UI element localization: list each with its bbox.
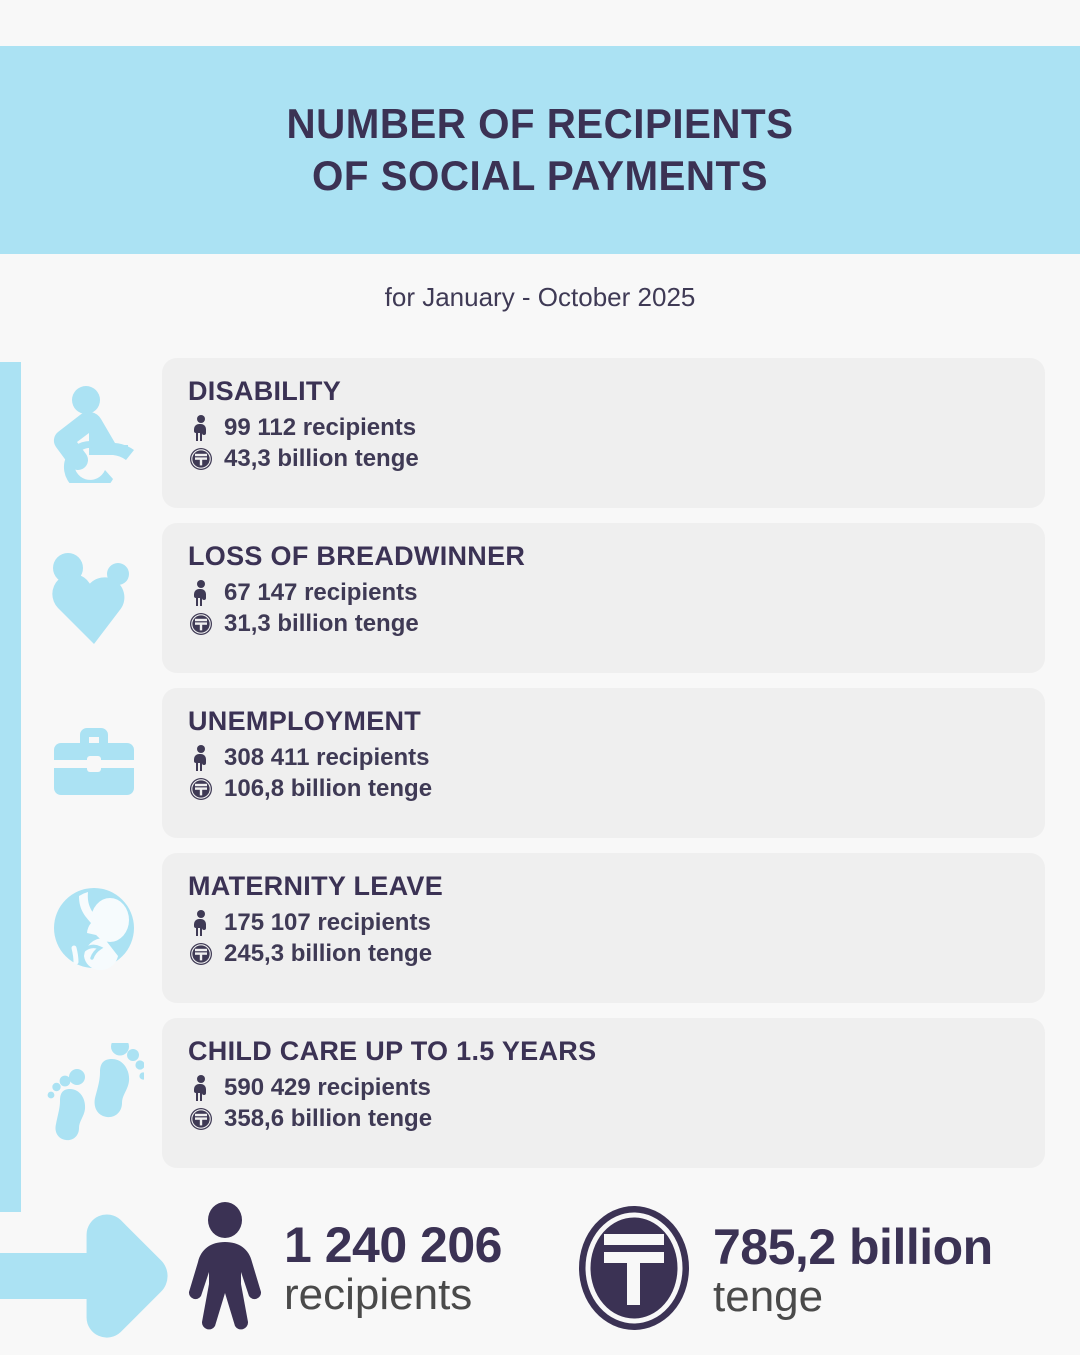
tenge-icon <box>188 776 214 802</box>
total-amount-text: 785,2 billion tenge <box>713 1221 993 1321</box>
total-recipients-unit: recipients <box>284 1271 502 1319</box>
benefit-row[interactable]: DISABILITY 99 112 recipients 43,3 billio… <box>0 358 1080 508</box>
recipients-value: 99 112 recipients <box>224 414 416 442</box>
benefit-title: UNEMPLOYMENT <box>188 706 1045 737</box>
total-recipients-text: 1 240 206 recipients <box>284 1219 502 1319</box>
benefit-title: CHILD CARE UP TO 1.5 YEARS <box>188 1036 1045 1067</box>
recipients-stat: 99 112 recipients <box>188 414 1045 442</box>
recipients-value: 308 411 recipients <box>224 744 429 772</box>
wheelchair-icon <box>42 381 146 485</box>
total-amount-block: 785,2 billion tenge <box>575 1204 993 1337</box>
benefit-title: MATERNITY LEAVE <box>188 871 1045 902</box>
benefit-card: CHILD CARE UP TO 1.5 YEARS 590 429 recip… <box>162 1018 1045 1168</box>
benefit-row[interactable]: MATERNITY LEAVE 175 107 recipients 245,3… <box>0 853 1080 1003</box>
amount-value: 245,3 billion tenge <box>224 940 432 968</box>
totals-footer: 1 240 206 recipients 785,2 billion tenge <box>0 1196 1080 1344</box>
person-icon <box>188 910 214 936</box>
total-recipients-value: 1 240 206 <box>284 1219 502 1271</box>
amount-stat: 106,8 billion tenge <box>188 775 1045 803</box>
period-subtitle: for January - October 2025 <box>0 282 1080 313</box>
page-title-line-2: OF SOCIAL PAYMENTS <box>287 150 794 203</box>
benefit-row[interactable]: CHILD CARE UP TO 1.5 YEARS 590 429 recip… <box>0 1018 1080 1168</box>
benefit-card: MATERNITY LEAVE 175 107 recipients 245,3… <box>162 853 1045 1003</box>
benefit-row[interactable]: LOSS OF BREADWINNER 67 147 recipients 31… <box>0 523 1080 673</box>
page-title-line-1: NUMBER OF RECIPIENTS <box>287 98 794 151</box>
person-icon <box>188 415 214 441</box>
amount-value: 43,3 billion tenge <box>224 445 419 473</box>
briefcase-icon <box>42 711 146 815</box>
total-amount-value: 785,2 billion <box>713 1221 993 1273</box>
benefit-rows: DISABILITY 99 112 recipients 43,3 billio… <box>0 358 1080 1183</box>
recipients-stat: 308 411 recipients <box>188 744 1045 772</box>
page-title: NUMBER OF RECIPIENTS OF SOCIAL PAYMENTS <box>287 98 794 203</box>
person-icon <box>188 745 214 771</box>
person-icon <box>188 580 214 606</box>
benefit-card: LOSS OF BREADWINNER 67 147 recipients 31… <box>162 523 1045 673</box>
total-recipients-block: 1 240 206 recipients <box>186 1202 502 1335</box>
amount-value: 358,6 billion tenge <box>224 1105 432 1133</box>
benefit-title: LOSS OF BREADWINNER <box>188 541 1045 572</box>
tenge-coin-icon <box>575 1204 693 1337</box>
recipients-value: 175 107 recipients <box>224 909 431 937</box>
header-band: NUMBER OF RECIPIENTS OF SOCIAL PAYMENTS <box>0 46 1080 254</box>
recipients-value: 590 429 recipients <box>224 1074 431 1102</box>
amount-value: 106,8 billion tenge <box>224 775 432 803</box>
benefit-card: DISABILITY 99 112 recipients 43,3 billio… <box>162 358 1045 508</box>
total-amount-unit: tenge <box>713 1273 993 1321</box>
tenge-icon <box>188 611 214 637</box>
recipients-value: 67 147 recipients <box>224 579 417 607</box>
recipients-stat: 175 107 recipients <box>188 909 1045 937</box>
recipients-stat: 590 429 recipients <box>188 1074 1045 1102</box>
benefit-card: UNEMPLOYMENT 308 411 recipients 106,8 bi… <box>162 688 1045 838</box>
benefit-row[interactable]: UNEMPLOYMENT 308 411 recipients 106,8 bi… <box>0 688 1080 838</box>
tenge-icon <box>188 941 214 967</box>
tenge-icon <box>188 1106 214 1132</box>
amount-value: 31,3 billion tenge <box>224 610 419 638</box>
person-icon <box>186 1202 264 1335</box>
amount-stat: 43,3 billion tenge <box>188 445 1045 473</box>
amount-stat: 31,3 billion tenge <box>188 610 1045 638</box>
person-icon <box>188 1075 214 1101</box>
tenge-icon <box>188 446 214 472</box>
pregnancy-icon <box>42 876 146 980</box>
amount-stat: 358,6 billion tenge <box>188 1105 1045 1133</box>
baby-footprints-icon <box>42 1041 146 1145</box>
recipients-stat: 67 147 recipients <box>188 579 1045 607</box>
benefit-title: DISABILITY <box>188 376 1045 407</box>
family-heart-icon <box>42 546 146 650</box>
amount-stat: 245,3 billion tenge <box>188 940 1045 968</box>
